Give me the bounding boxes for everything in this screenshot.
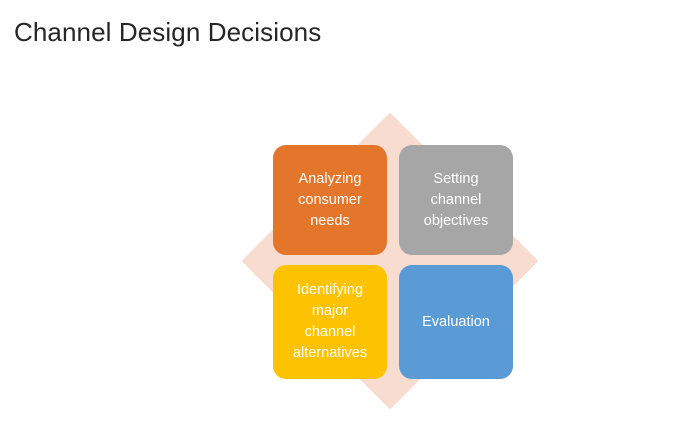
quadrant-label: Identifying major channel alternatives xyxy=(293,280,367,364)
quadrant-grid: Analyzing consumer needs Setting channel… xyxy=(273,145,513,379)
quadrant-label: Analyzing consumer needs xyxy=(298,169,362,232)
quadrant-label: Evaluation xyxy=(422,312,490,333)
quadrant-identifying-major-channel-alternatives[interactable]: Identifying major channel alternatives xyxy=(273,265,387,379)
channel-design-diagram: Analyzing consumer needs Setting channel… xyxy=(238,112,542,410)
quadrant-analyzing-consumer-needs[interactable]: Analyzing consumer needs xyxy=(273,145,387,255)
quadrant-evaluation[interactable]: Evaluation xyxy=(399,265,513,379)
quadrant-setting-channel-objectives[interactable]: Setting channel objectives xyxy=(399,145,513,255)
quadrant-label: Setting channel objectives xyxy=(424,169,488,232)
page-title: Channel Design Decisions xyxy=(14,16,321,48)
